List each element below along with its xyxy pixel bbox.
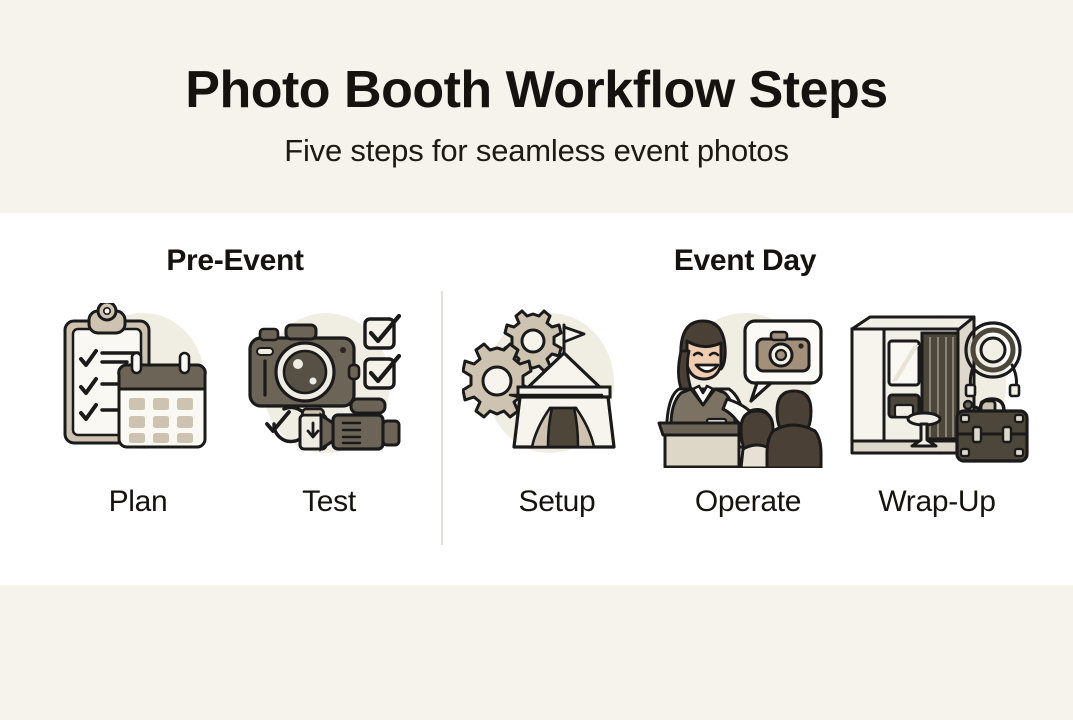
- steps-panel: Pre-Event Event Day: [0, 213, 1073, 585]
- step-wrap-up[interactable]: Wrap-Up: [842, 303, 1032, 519]
- infographic-page: Photo Booth Workflow Steps Five steps fo…: [0, 0, 1073, 720]
- header-band: Photo Booth Workflow Steps Five steps fo…: [0, 0, 1073, 213]
- group-heading-event-day: Event Day: [595, 244, 895, 278]
- page-subtitle: Five steps for seamless event photos: [0, 133, 1073, 169]
- clipboard-calendar-icon: [43, 303, 233, 468]
- footer-band: [0, 585, 1073, 720]
- attendant-guests-icon: [653, 303, 843, 468]
- page-title: Photo Booth Workflow Steps: [0, 62, 1073, 119]
- step-label-setup: Setup: [462, 485, 652, 519]
- step-label-operate: Operate: [653, 485, 843, 519]
- step-test[interactable]: Test: [234, 303, 424, 519]
- step-operate[interactable]: Operate: [653, 303, 843, 519]
- step-label-plan: Plan: [43, 485, 233, 519]
- step-plan[interactable]: Plan: [43, 303, 233, 519]
- step-label-wrap-up: Wrap-Up: [842, 485, 1032, 519]
- step-setup[interactable]: Setup: [462, 303, 652, 519]
- section-divider: [441, 291, 443, 545]
- gears-tent-icon: [462, 303, 652, 468]
- booth-case-cable-icon: [842, 303, 1032, 468]
- group-heading-pre-event: Pre-Event: [85, 244, 385, 278]
- camera-checklist-icon: [234, 303, 424, 468]
- step-label-test: Test: [234, 485, 424, 519]
